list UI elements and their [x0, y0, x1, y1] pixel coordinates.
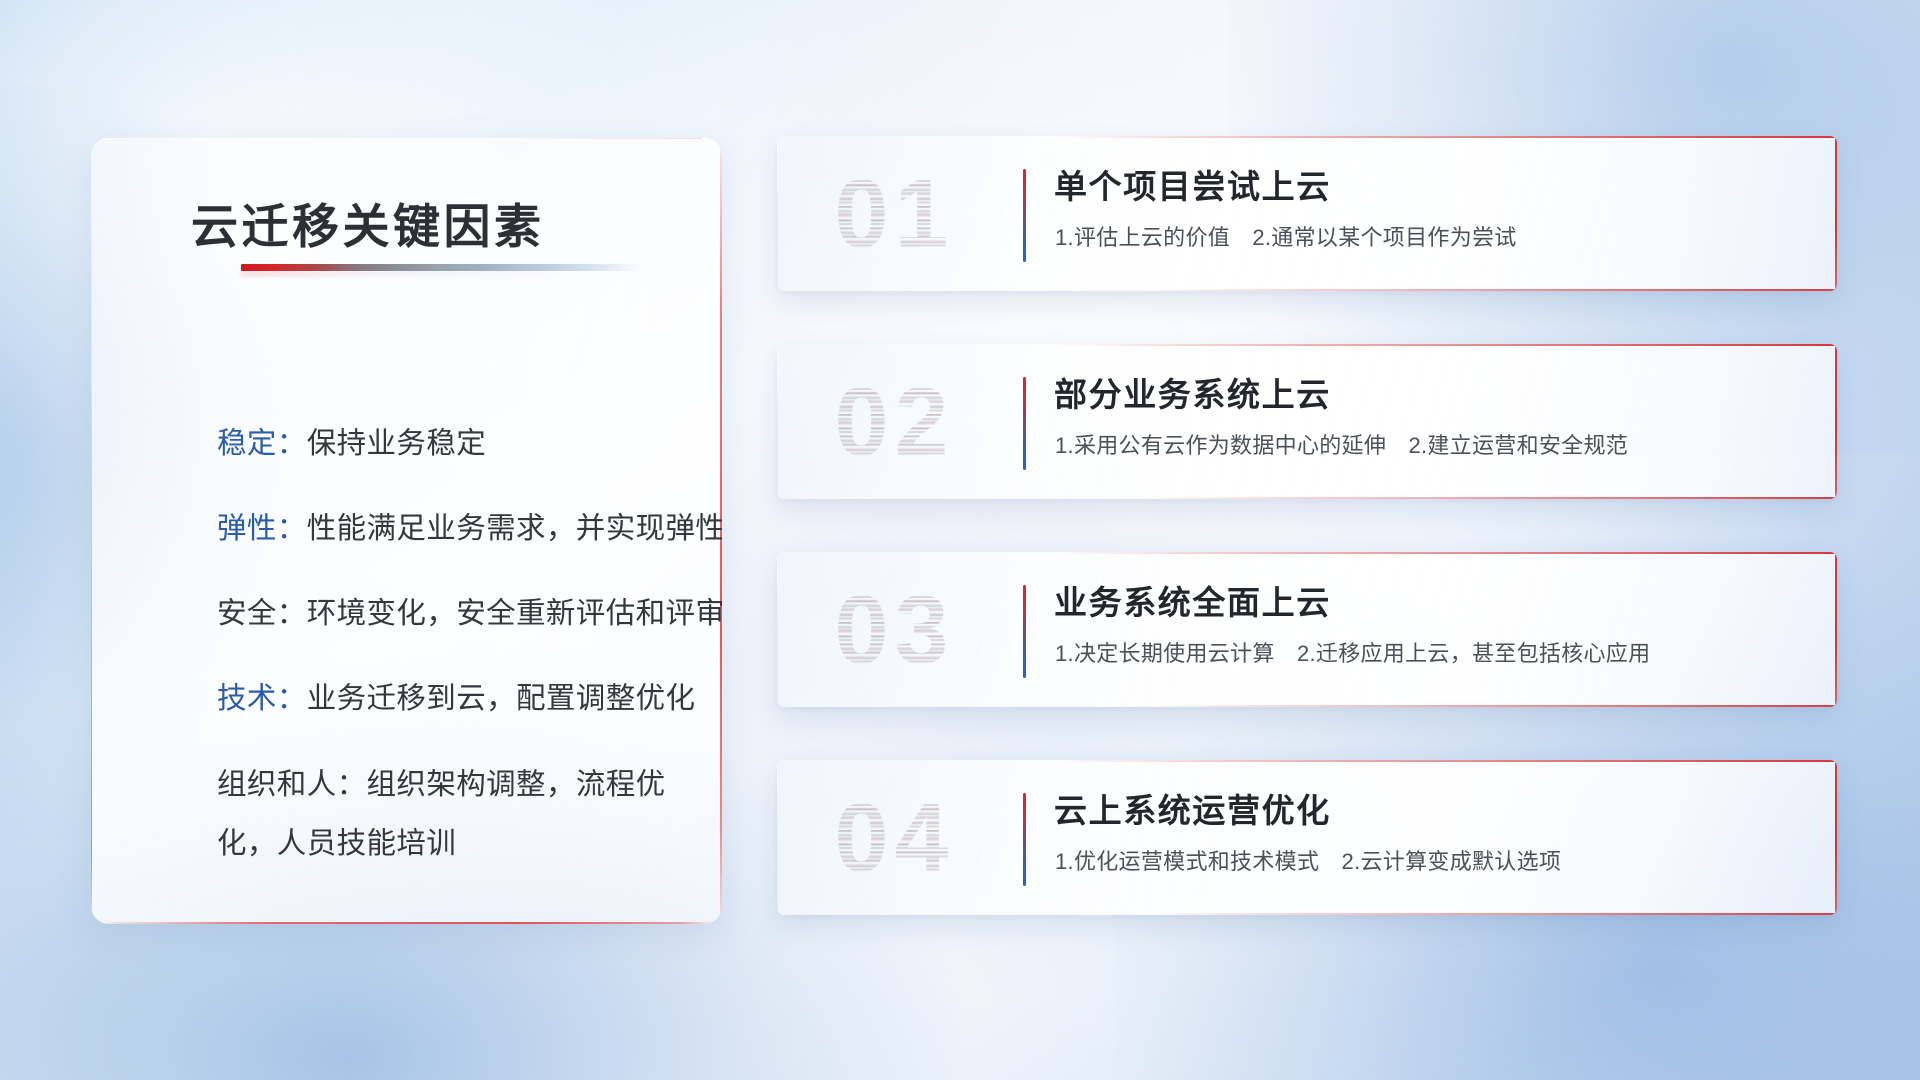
- step-accent-bar: [1023, 585, 1026, 678]
- title-underline-bar: [241, 264, 641, 271]
- panel-bottom-edge: [107, 922, 716, 924]
- card-bottom-edge: [1137, 497, 1837, 499]
- card-right-edge: [1835, 552, 1837, 707]
- list-item-key: 组织和人：: [217, 768, 367, 801]
- step-number-watermark-tint: 02: [807, 358, 982, 486]
- step-title: 部分业务系统上云: [1054, 368, 1331, 416]
- slide-content: 云迁移关键因素 稳定：保持业务稳定 弹性：性能满足业务需求，并实现弹性 安全：环…: [0, 0, 1920, 1080]
- key-factors-panel: 云迁移关键因素 稳定：保持业务稳定 弹性：性能满足业务需求，并实现弹性 安全：环…: [91, 138, 722, 924]
- list-item-text: 性能满足业务需求，并实现弹性: [307, 512, 722, 545]
- list-item: 组织和人：组织架构调整，流程优化，人员技能培训: [217, 756, 682, 873]
- list-item-text: 环境变化，安全重新评估和评审: [307, 597, 722, 630]
- step-number-watermark-tint: 03: [807, 566, 982, 694]
- step-accent-bar: [1023, 377, 1026, 470]
- card-left-edge: [777, 136, 778, 291]
- list-item: 弹性：性能满足业务需求，并实现弹性: [217, 501, 682, 557]
- step-description: 1.评估上云的价值 2.通常以某个项目作为尝试: [1055, 220, 1517, 252]
- card-bottom-edge: [1137, 913, 1837, 915]
- step-description: 1.优化运营模式和技术模式 2.云计算变成默认选项: [1055, 844, 1561, 876]
- step-number-watermark: 02: [807, 358, 982, 486]
- card-left-edge: [777, 344, 778, 499]
- card-bottom-edge: [1137, 289, 1837, 291]
- card-right-edge: [1835, 344, 1837, 499]
- migration-steps-list: 01 01 单个项目尝试上云 1.评估上云的价值 2.通常以某个项目作为尝试 0…: [777, 136, 1837, 968]
- step-number-watermark-tint: 01: [807, 150, 982, 278]
- card-left-edge: [777, 760, 778, 915]
- step-accent-bar: [1023, 169, 1026, 262]
- panel-top-edge: [103, 138, 702, 139]
- card-top-edge: [1053, 552, 1837, 554]
- step-description: 1.采用公有云作为数据中心的延伸 2.建立运营和安全规范: [1055, 428, 1628, 460]
- card-right-edge: [1835, 136, 1837, 291]
- step-card-02[interactable]: 02 02 部分业务系统上云 1.采用公有云作为数据中心的延伸 2.建立运营和安…: [777, 344, 1837, 499]
- list-item-text: 保持业务稳定: [307, 427, 486, 460]
- list-item-key: 安全：: [217, 597, 307, 630]
- step-description: 1.决定长期使用云计算 2.迁移应用上云，甚至包括核心应用: [1055, 636, 1650, 668]
- step-card-04[interactable]: 04 04 云上系统运营优化 1.优化运营模式和技术模式 2.云计算变成默认选项: [777, 760, 1837, 915]
- list-item: 安全：环境变化，安全重新评估和评审: [217, 586, 682, 642]
- list-item-text: 业务迁移到云，配置调整优化: [307, 682, 696, 715]
- list-item-key: 弹性：: [217, 512, 307, 545]
- step-number-watermark: 03: [807, 566, 982, 694]
- key-factors-list: 稳定：保持业务稳定 弹性：性能满足业务需求，并实现弹性 安全：环境变化，安全重新…: [217, 416, 682, 902]
- panel-left-edge: [91, 154, 92, 916]
- list-item: 稳定：保持业务稳定: [217, 416, 682, 472]
- card-left-edge: [777, 552, 778, 707]
- step-card-01[interactable]: 01 01 单个项目尝试上云 1.评估上云的价值 2.通常以某个项目作为尝试: [777, 136, 1837, 291]
- step-card-03[interactable]: 03 03 业务系统全面上云 1.决定长期使用云计算 2.迁移应用上云，甚至包括…: [777, 552, 1837, 707]
- step-title: 单个项目尝试上云: [1054, 160, 1331, 208]
- list-item-key: 技术：: [217, 682, 307, 715]
- step-number-watermark-tint: 04: [807, 774, 982, 902]
- list-item-key: 稳定：: [217, 427, 307, 460]
- card-top-edge: [1053, 760, 1837, 762]
- card-right-edge: [1835, 760, 1837, 915]
- step-title: 云上系统运营优化: [1054, 784, 1331, 832]
- step-accent-bar: [1023, 793, 1026, 886]
- card-top-edge: [1053, 344, 1837, 346]
- step-number-watermark: 01: [807, 150, 982, 278]
- step-title: 业务系统全面上云: [1054, 576, 1331, 624]
- page-title: 云迁移关键因素: [191, 188, 545, 257]
- list-item: 技术：业务迁移到云，配置调整优化: [217, 671, 682, 727]
- card-top-edge: [1053, 136, 1837, 138]
- step-number-watermark: 04: [807, 774, 982, 902]
- card-bottom-edge: [1137, 705, 1837, 707]
